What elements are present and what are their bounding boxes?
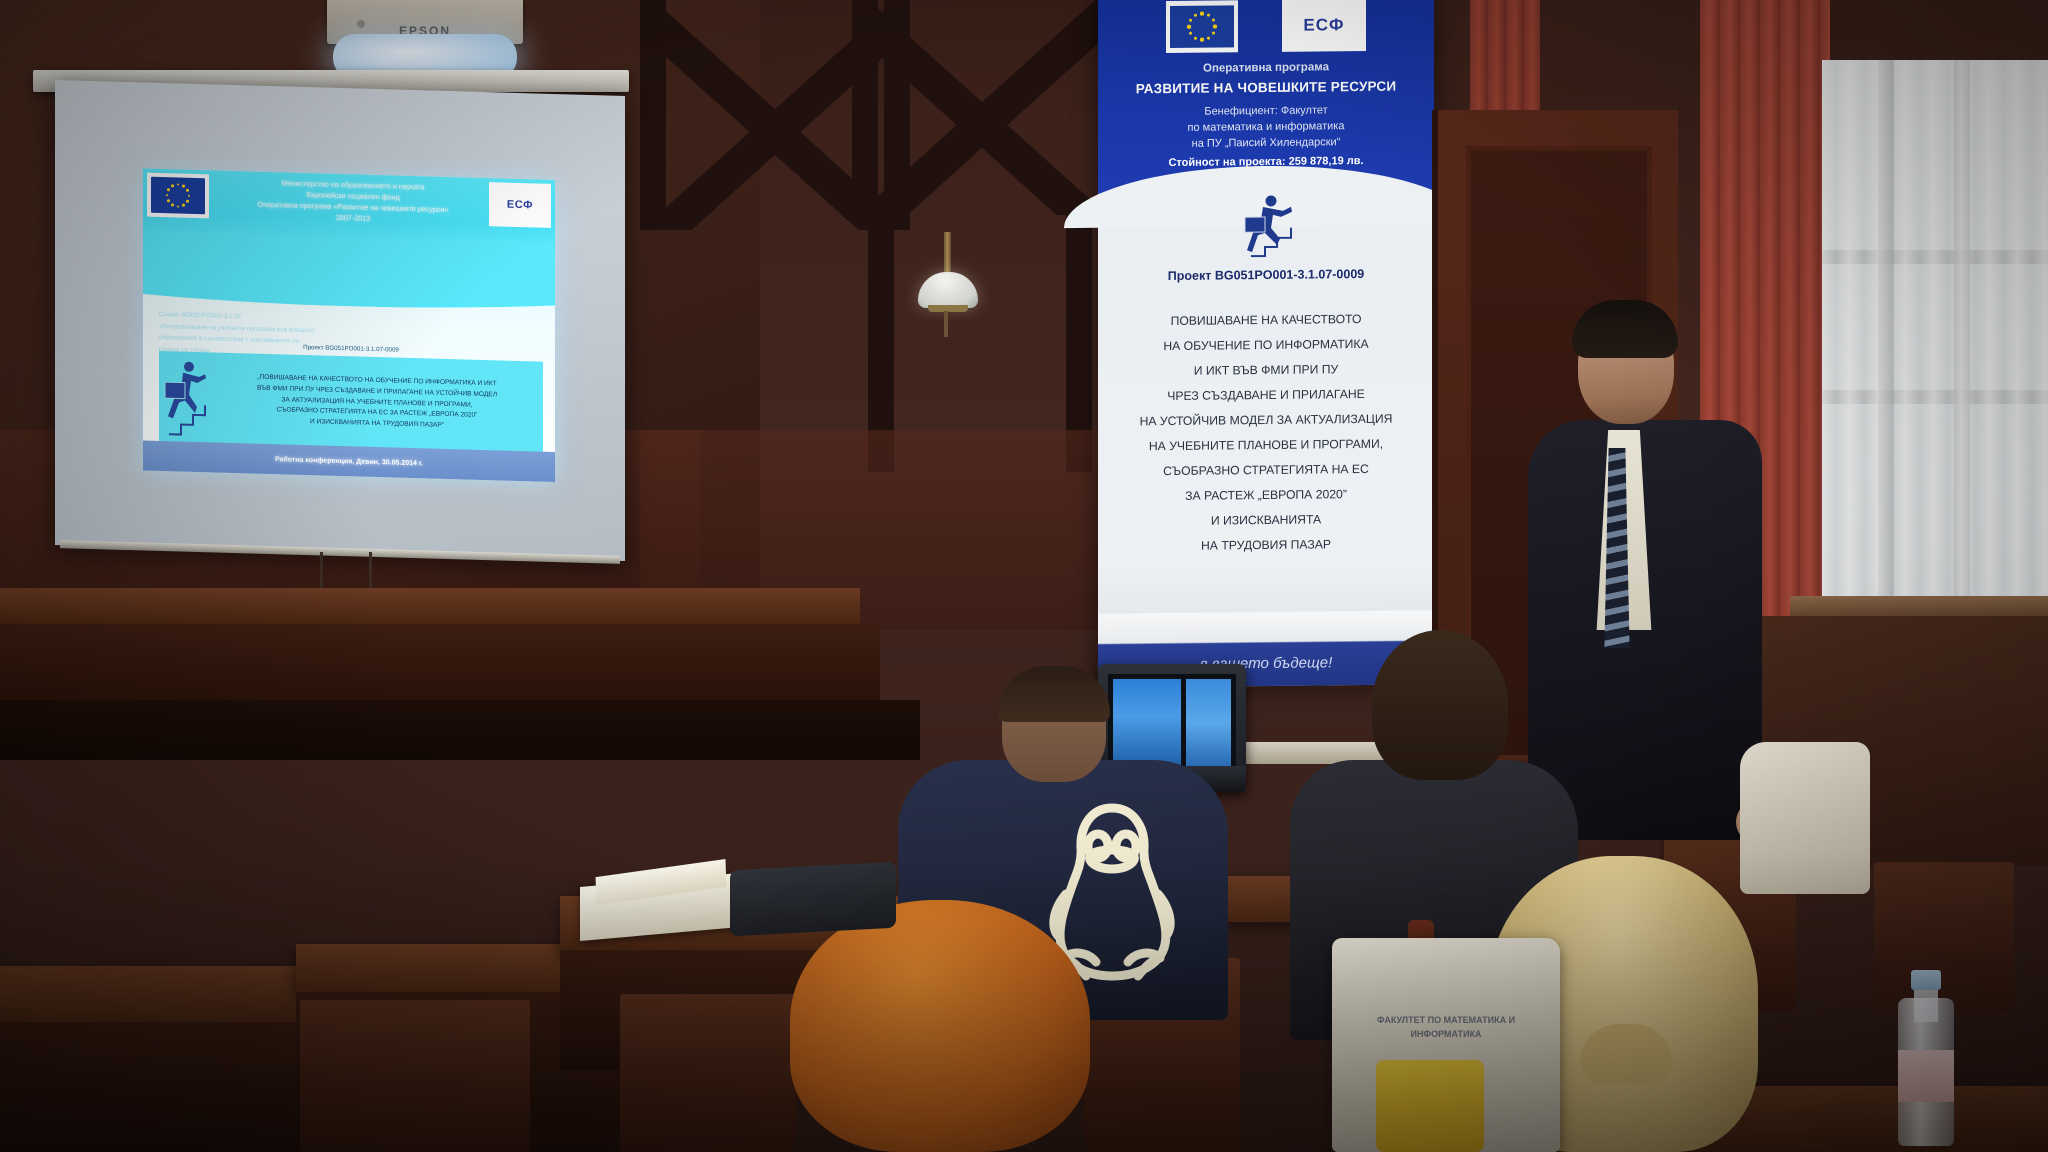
dark-bag-on-desk bbox=[730, 862, 896, 937]
eu-flag-icon bbox=[1166, 0, 1238, 53]
presentation-slide: ЕСФ Министерство на образованието и наук… bbox=[143, 168, 555, 482]
conference-room-photo: EPSON ЕСФ Министерство на образованието … bbox=[0, 0, 2048, 1152]
banner-programme-small: Оперативна програма bbox=[1104, 60, 1428, 75]
esf-logo-icon: ЕСФ bbox=[1282, 0, 1366, 52]
slide-body-text: Проект BG051PO001-3.1.07-0009 „ПОВИШАВАН… bbox=[215, 372, 543, 435]
water-bottle bbox=[1898, 970, 1954, 1146]
window bbox=[1822, 60, 2048, 620]
runner-with-briefcase-icon bbox=[159, 356, 215, 440]
runner-with-briefcase-icon bbox=[1231, 192, 1301, 261]
laptop-window-presentation bbox=[1113, 679, 1181, 767]
banner-logos: ЕСФ bbox=[1098, 0, 1434, 58]
yellow-bag bbox=[1376, 1060, 1484, 1152]
slide-body-panel: Проект BG051PO001-3.1.07-0009 „ПОВИШАВАН… bbox=[159, 351, 543, 454]
banner-body-text: ПОВИШАВАНЕ НА КАЧЕСТВОТО НА ОБУЧЕНИЕ ПО … bbox=[1112, 306, 1420, 559]
bottle-neck bbox=[1914, 988, 1938, 1022]
attendee-blonde-ponytail-tie bbox=[1580, 1024, 1672, 1084]
sheer-curtain bbox=[1822, 60, 2048, 620]
banner-project-number: Проект BG051PO001-3.1.07-0009 bbox=[1098, 266, 1434, 284]
esf-logo-icon: ЕСФ bbox=[489, 182, 551, 228]
floor-shadow bbox=[0, 700, 920, 760]
bottle-cap bbox=[1911, 970, 1941, 990]
banner-header-block: ЕСФ Оперативна програма РАЗВИТИЕ НА ЧОВЕ… bbox=[1098, 0, 1434, 194]
wall-timber-cross-right bbox=[852, 0, 1112, 215]
banner-programme-title: РАЗВИТИЕ НА ЧОВЕШКИТЕ РЕСУРСИ bbox=[1102, 78, 1430, 96]
projection-screen: ЕСФ Министерство на образованието и наук… bbox=[55, 80, 625, 561]
rollup-banner: ЕСФ Оперативна програма РАЗВИТИЕ НА ЧОВЕ… bbox=[1098, 0, 1434, 688]
chair-left bbox=[300, 1000, 530, 1152]
laptop-window-secondary bbox=[1186, 679, 1231, 767]
laptop-screen bbox=[1108, 674, 1236, 772]
faculty-bag-text: ФАКУЛТЕТ ПО МАТЕМАТИКА И ИНФОРМАТИКА bbox=[1342, 1014, 1550, 1041]
slide-wave-shape bbox=[143, 230, 555, 312]
slide-header-text: Министерство на образованието и науката … bbox=[211, 175, 495, 228]
presenter-hair bbox=[1572, 300, 1678, 358]
desk-front-left-panel bbox=[0, 1022, 310, 1152]
white-bag-right bbox=[1740, 742, 1870, 894]
stage-platform-top bbox=[0, 588, 860, 626]
lamp-pull-chain bbox=[944, 311, 948, 337]
presenter-body bbox=[1528, 420, 1762, 840]
eu-flag-icon bbox=[147, 173, 209, 219]
lamp-arm bbox=[944, 232, 951, 276]
chair-center-left bbox=[620, 994, 796, 1152]
slide-footer-text: Работна конференция, Девин, 30.05.2014 г… bbox=[275, 456, 423, 467]
banner-project-value: Стойност на проекта: 259 878,19 лв. bbox=[1104, 154, 1428, 169]
desk-front-left bbox=[0, 966, 310, 1026]
lamp-base bbox=[928, 305, 968, 312]
banner-beneficiary: Бенефициент: Факултет по математика и ин… bbox=[1108, 102, 1424, 153]
attendee-red-hair-head bbox=[790, 900, 1090, 1152]
attendee-curly-hair-head bbox=[1372, 630, 1508, 780]
bottle-label bbox=[1898, 1050, 1954, 1102]
stage-platform-face bbox=[0, 624, 880, 700]
